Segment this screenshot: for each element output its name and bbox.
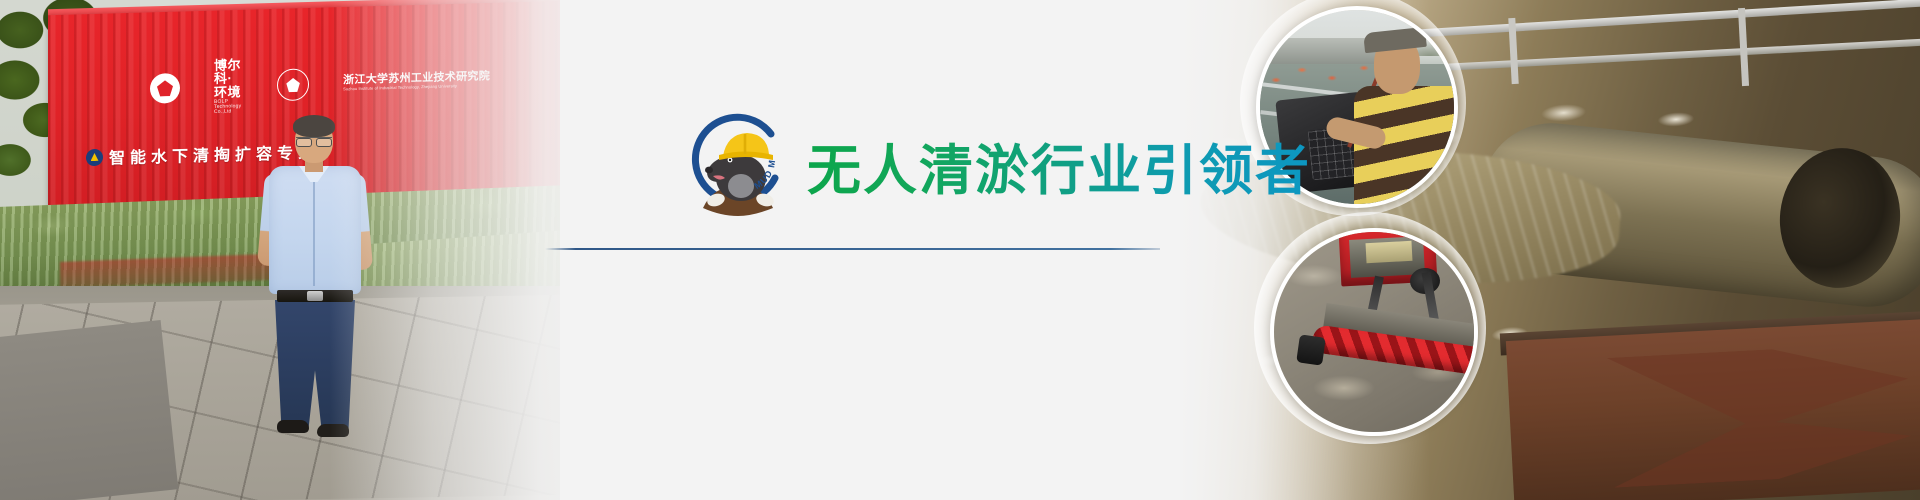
person-hair [293, 115, 335, 137]
headline-text: 无人清淤行业引领者 [807, 126, 1311, 205]
logo-mole-nose [705, 167, 713, 174]
logo-mole-belly [728, 174, 754, 198]
zju-emblem-icon [277, 68, 309, 101]
bolp-brand: 博尔科·环境 BOLP Technology Co.,Ltd [214, 58, 243, 115]
logo-mole-pupil [729, 159, 731, 161]
glasses-icon [296, 137, 332, 145]
left-photo-fade [330, 0, 560, 500]
center-content: MUD MOLE 无人清淤行业引领者 [545, 0, 1225, 500]
belt-buckle [307, 291, 323, 301]
asphalt-road [0, 320, 178, 500]
hero-banner: 博尔科·环境 BOLP Technology Co.,Ltd 浙江大学苏州工业技… [0, 0, 1920, 500]
robot-equipment-box [1366, 241, 1413, 263]
person-left-shoe [277, 420, 309, 433]
auger-end-cap [1296, 334, 1326, 365]
slogan-badge-icon [86, 148, 103, 165]
left-photo: 博尔科·环境 BOLP Technology Co.,Ltd 浙江大学苏州工业技… [0, 0, 560, 500]
mud-mole-logo-svg: MUD MOLE [683, 112, 793, 224]
operator-person [1352, 30, 1458, 208]
circle-photo-dredging-robot [1270, 228, 1478, 436]
bolp-emblem-icon [150, 73, 180, 104]
mud-mole-logo: MUD MOLE [683, 112, 793, 224]
bolp-brand-cn: 博尔科·环境 [214, 58, 243, 100]
headline-divider [545, 248, 1160, 250]
shirt-placket [313, 174, 315, 286]
bolp-brand-en: BOLP Technology Co.,Ltd [214, 99, 243, 116]
